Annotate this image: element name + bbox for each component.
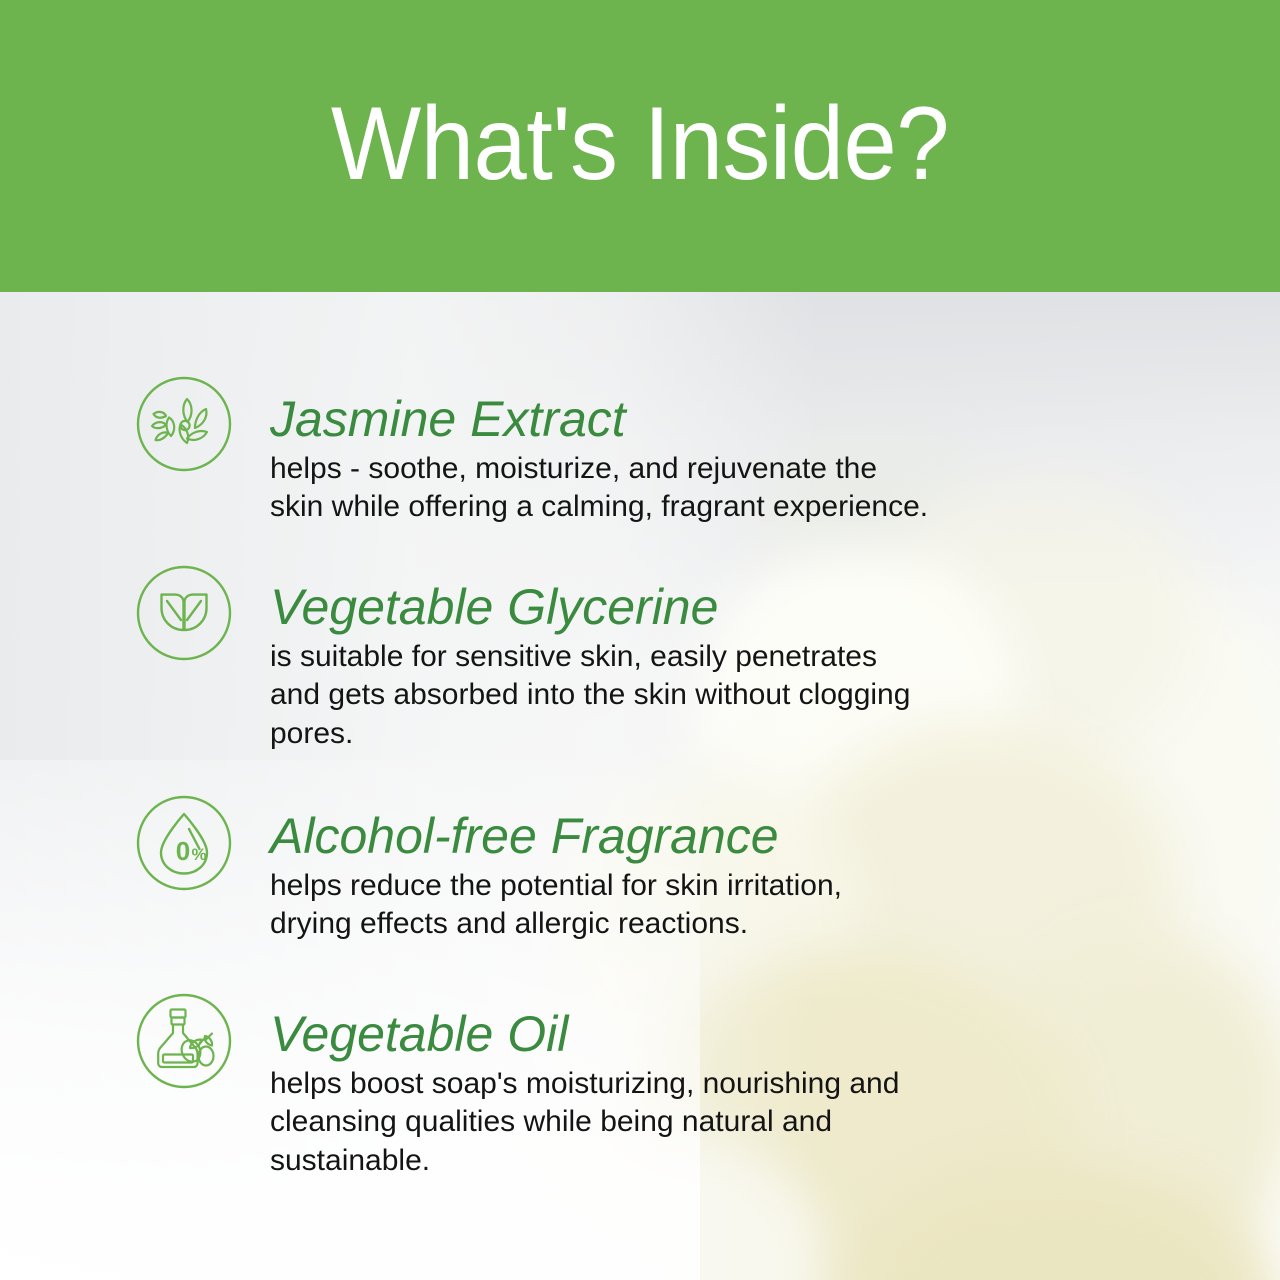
droplet-badge-percent: %	[191, 845, 206, 864]
ingredient-description: helps reduce the potential for skin irri…	[270, 867, 930, 944]
ingredient-title: Vegetable Glycerine	[270, 581, 950, 634]
ingredient-description: is suitable for sensitive skin, easily p…	[270, 638, 930, 753]
zero-percent-droplet-icon: 0 %	[135, 794, 233, 892]
ingredient-text-jasmine-extract: Jasmine Extract helps - soothe, moisturi…	[270, 393, 950, 527]
ingredient-text-vegetable-glycerine: Vegetable Glycerine is suitable for sens…	[270, 581, 950, 753]
ingredient-description: helps boost soap's moisturizing, nourish…	[270, 1065, 930, 1180]
oil-bottle-olives-icon	[135, 992, 233, 1090]
ingredient-description: helps - soothe, moisturize, and rejuvena…	[270, 450, 930, 527]
ingredient-title: Vegetable Oil	[270, 1008, 950, 1061]
ingredient-title: Alcohol-free Fragrance	[270, 810, 950, 863]
droplet-badge-text: 0	[176, 836, 190, 866]
header-banner: What's Inside?	[0, 0, 1280, 292]
jasmine-flower-icon	[135, 375, 233, 473]
ingredients-poster: What's Inside?	[0, 0, 1280, 1280]
two-leaves-icon	[135, 564, 233, 662]
ingredient-title: Jasmine Extract	[270, 393, 950, 446]
ingredient-text-vegetable-oil: Vegetable Oil helps boost soap's moistur…	[270, 1008, 950, 1180]
page-title: What's Inside?	[331, 92, 949, 196]
ingredient-text-alcohol-free-fragrance: Alcohol-free Fragrance helps reduce the …	[270, 810, 950, 944]
